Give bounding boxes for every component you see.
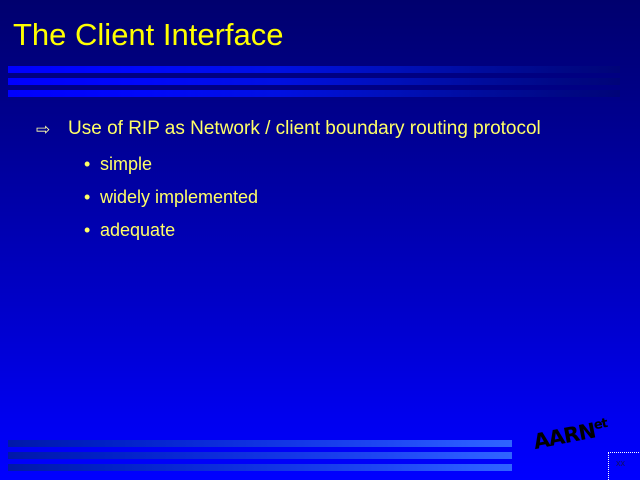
bullet-level2-text: adequate	[100, 220, 175, 240]
divider-bar	[8, 66, 620, 73]
page-number: xx	[616, 458, 625, 468]
bullet-level2: • adequate	[0, 219, 640, 241]
aarnet-logo: AARNet	[531, 416, 609, 454]
bullet-level2: • simple	[0, 153, 640, 175]
divider-bar	[8, 440, 512, 447]
slide-title: The Client Interface	[13, 16, 613, 54]
arrow-bullet-icon: ⇨	[36, 117, 50, 142]
dot-bullet-icon: •	[84, 186, 90, 208]
dot-bullet-icon: •	[84, 153, 90, 175]
title-divider-rule	[8, 66, 620, 97]
bullet-sublist: • simple • widely implemented • adequate	[0, 153, 640, 241]
slide-canvas: The Client Interface ⇨ Use of RIP as Net…	[0, 0, 640, 480]
aarnet-logo-suffix: et	[593, 416, 609, 433]
divider-bar	[8, 90, 620, 97]
page-number-placeholder: xx	[608, 452, 640, 480]
bullet-level1: ⇨ Use of RIP as Network / client boundar…	[0, 116, 588, 141]
dot-bullet-icon: •	[84, 219, 90, 241]
bullet-level2-text: simple	[100, 154, 152, 174]
aarnet-logo-main: AARN	[531, 419, 597, 454]
bullet-level2-text: widely implemented	[100, 187, 258, 207]
divider-bar	[8, 78, 620, 85]
bullet-level1-text: Use of RIP as Network / client boundary …	[68, 118, 541, 139]
divider-bar	[8, 464, 512, 471]
divider-bar	[8, 452, 512, 459]
bullet-level2: • widely implemented	[0, 186, 640, 208]
footer-divider-rule	[8, 440, 512, 471]
slide-body: ⇨ Use of RIP as Network / client boundar…	[0, 116, 640, 252]
